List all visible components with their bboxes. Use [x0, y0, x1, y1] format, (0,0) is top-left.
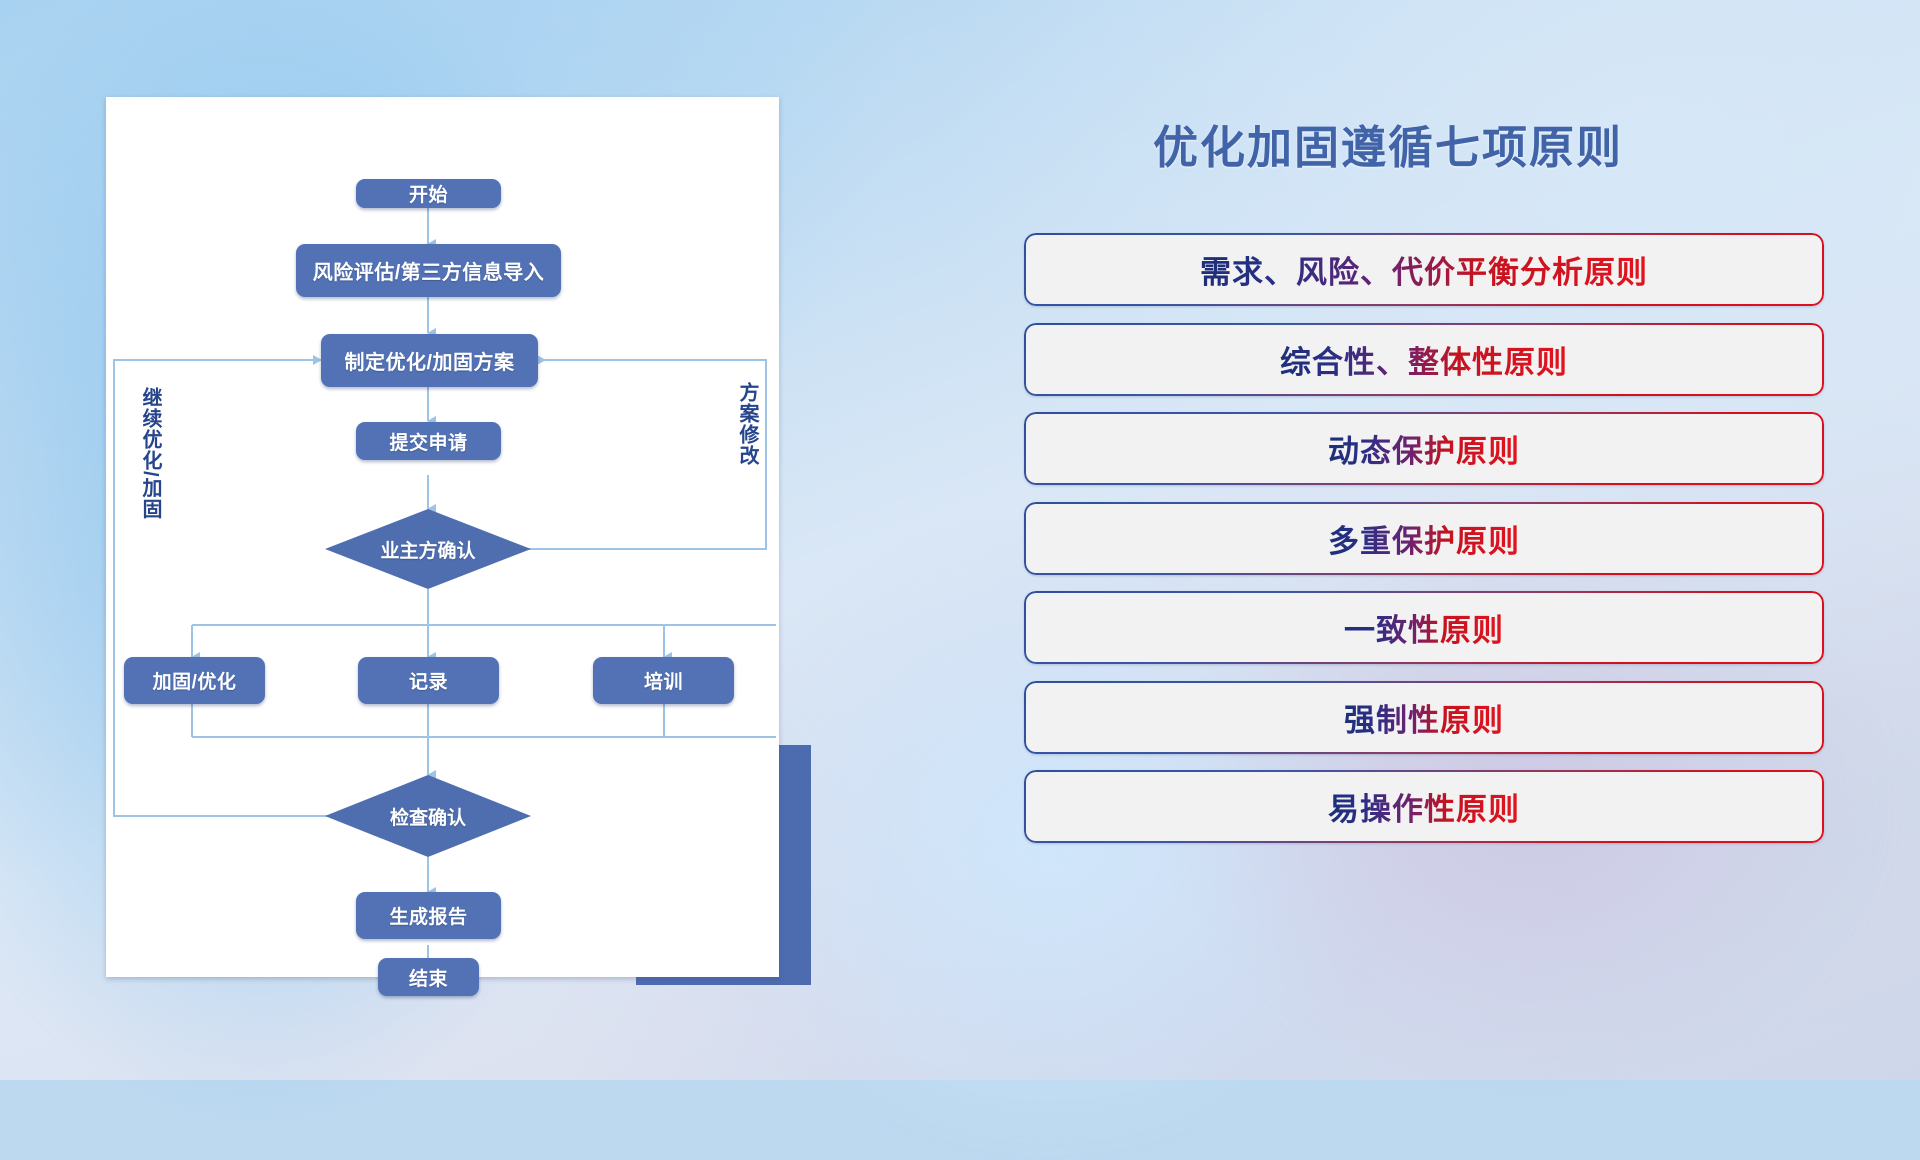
principle-card-1[interactable]: 需求、风险、代价平衡分析原则 [1024, 233, 1824, 306]
flow-node-submit[interactable]: 提交申请 [356, 422, 501, 460]
flow-node-reinforce[interactable]: 加固/优化 [124, 657, 265, 704]
flow-node-report[interactable]: 生成报告 [356, 892, 501, 939]
page-title: 优化加固遵循七项原则 [1153, 111, 1623, 176]
principle-card-5[interactable]: 一致性原则 [1024, 591, 1824, 664]
flow-node-plan[interactable]: 制定优化/加固方案 [321, 334, 538, 387]
principle-card-7[interactable]: 易操作性原则 [1024, 770, 1824, 843]
flow-node-start[interactable]: 开始 [356, 179, 501, 208]
flow-edge-label-left: 继续优化/加固 [139, 387, 160, 547]
flow-node-label: 检查确认 [390, 803, 466, 830]
flow-node-label: 风险评估/第三方信息导入 [313, 256, 545, 285]
flow-node-record[interactable]: 记录 [358, 657, 499, 704]
principle-card-4[interactable]: 多重保护原则 [1024, 502, 1824, 575]
principle-label: 易操作性原则 [1328, 784, 1520, 829]
flow-node-label: 加固/优化 [153, 667, 237, 694]
flow-node-training[interactable]: 培训 [593, 657, 734, 704]
principle-label: 多重保护原则 [1328, 516, 1520, 561]
principle-label: 动态保护原则 [1328, 426, 1520, 471]
principle-label: 综合性、整体性原则 [1280, 337, 1568, 382]
flow-node-label: 培训 [644, 667, 683, 694]
flow-decision-owner-confirm[interactable]: 业主方确认 [325, 509, 531, 589]
principle-label: 一致性原则 [1344, 605, 1504, 650]
principle-card-2[interactable]: 综合性、整体性原则 [1024, 323, 1824, 396]
flow-node-end[interactable]: 结束 [378, 958, 479, 996]
flow-decision-inspection[interactable]: 检查确认 [325, 775, 531, 857]
flow-node-label: 记录 [409, 667, 448, 694]
flow-node-label: 提交申请 [389, 428, 467, 455]
flowchart-card: 开始 风险评估/第三方信息导入 制定优化/加固方案 提交申请 业主方确认 加固/… [106, 97, 779, 977]
principle-label: 强制性原则 [1344, 695, 1504, 740]
flow-node-label: 业主方确认 [380, 536, 475, 563]
principle-card-3[interactable]: 动态保护原则 [1024, 412, 1824, 485]
flow-node-risk-assessment[interactable]: 风险评估/第三方信息导入 [296, 244, 561, 297]
flow-node-label: 结束 [409, 964, 448, 991]
principles-list: 需求、风险、代价平衡分析原则 综合性、整体性原则 动态保护原则 多重保护原则 一… [1024, 233, 1824, 860]
principle-card-6[interactable]: 强制性原则 [1024, 681, 1824, 754]
flow-edge-label-right: 方案修改 [736, 382, 757, 512]
flow-node-label: 生成报告 [389, 902, 467, 929]
principle-label: 需求、风险、代价平衡分析原则 [1200, 247, 1648, 292]
flow-node-label: 开始 [409, 180, 448, 207]
flow-node-label: 制定优化/加固方案 [344, 346, 514, 375]
